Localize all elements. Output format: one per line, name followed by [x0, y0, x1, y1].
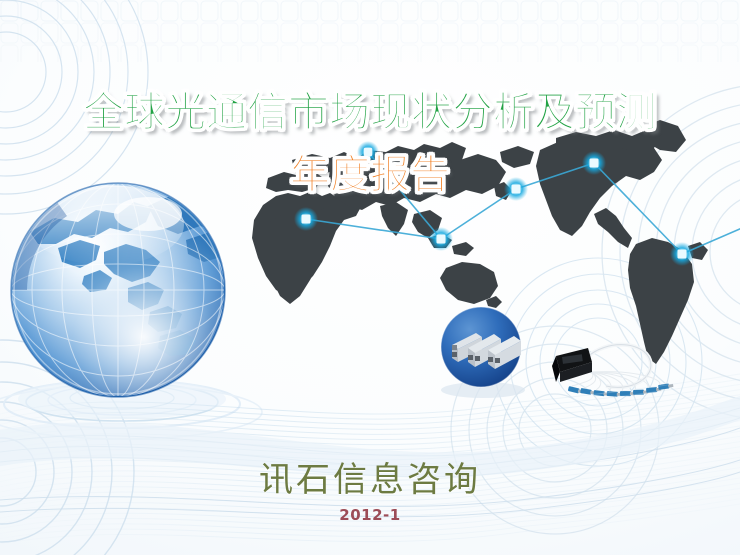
- glass-globe-icon: [11, 183, 256, 397]
- page-subtitle: 年度报告: [290, 142, 450, 200]
- subtitle-block: 年度报告: [0, 140, 740, 200]
- report-date: 2012-1: [339, 506, 400, 524]
- plc-splitter-photo: [552, 345, 674, 397]
- company-name: 讯石信息咨询: [259, 460, 481, 500]
- concentric-arc-rings-bottom-center: [451, 326, 659, 534]
- footer-block: 讯石信息咨询: [0, 452, 740, 501]
- page-title: 全球光通信市场现状分析及预测: [83, 78, 657, 138]
- globe-shadow: [18, 379, 226, 419]
- presentation-cover-slide: 全球光通信市场现状分析及预测 年度报告 讯石信息咨询 2012-1: [0, 0, 740, 555]
- concentric-arc-rings-behind-devices: [494, 258, 702, 466]
- globe-water-reflection: [0, 380, 262, 439]
- sfp-transceiver-photo: [441, 307, 525, 398]
- date-block: 2012-1: [0, 506, 740, 525]
- rounded-rect-grid-decor: [0, 0, 740, 62]
- title-block: 全球光通信市场现状分析及预测: [0, 78, 740, 138]
